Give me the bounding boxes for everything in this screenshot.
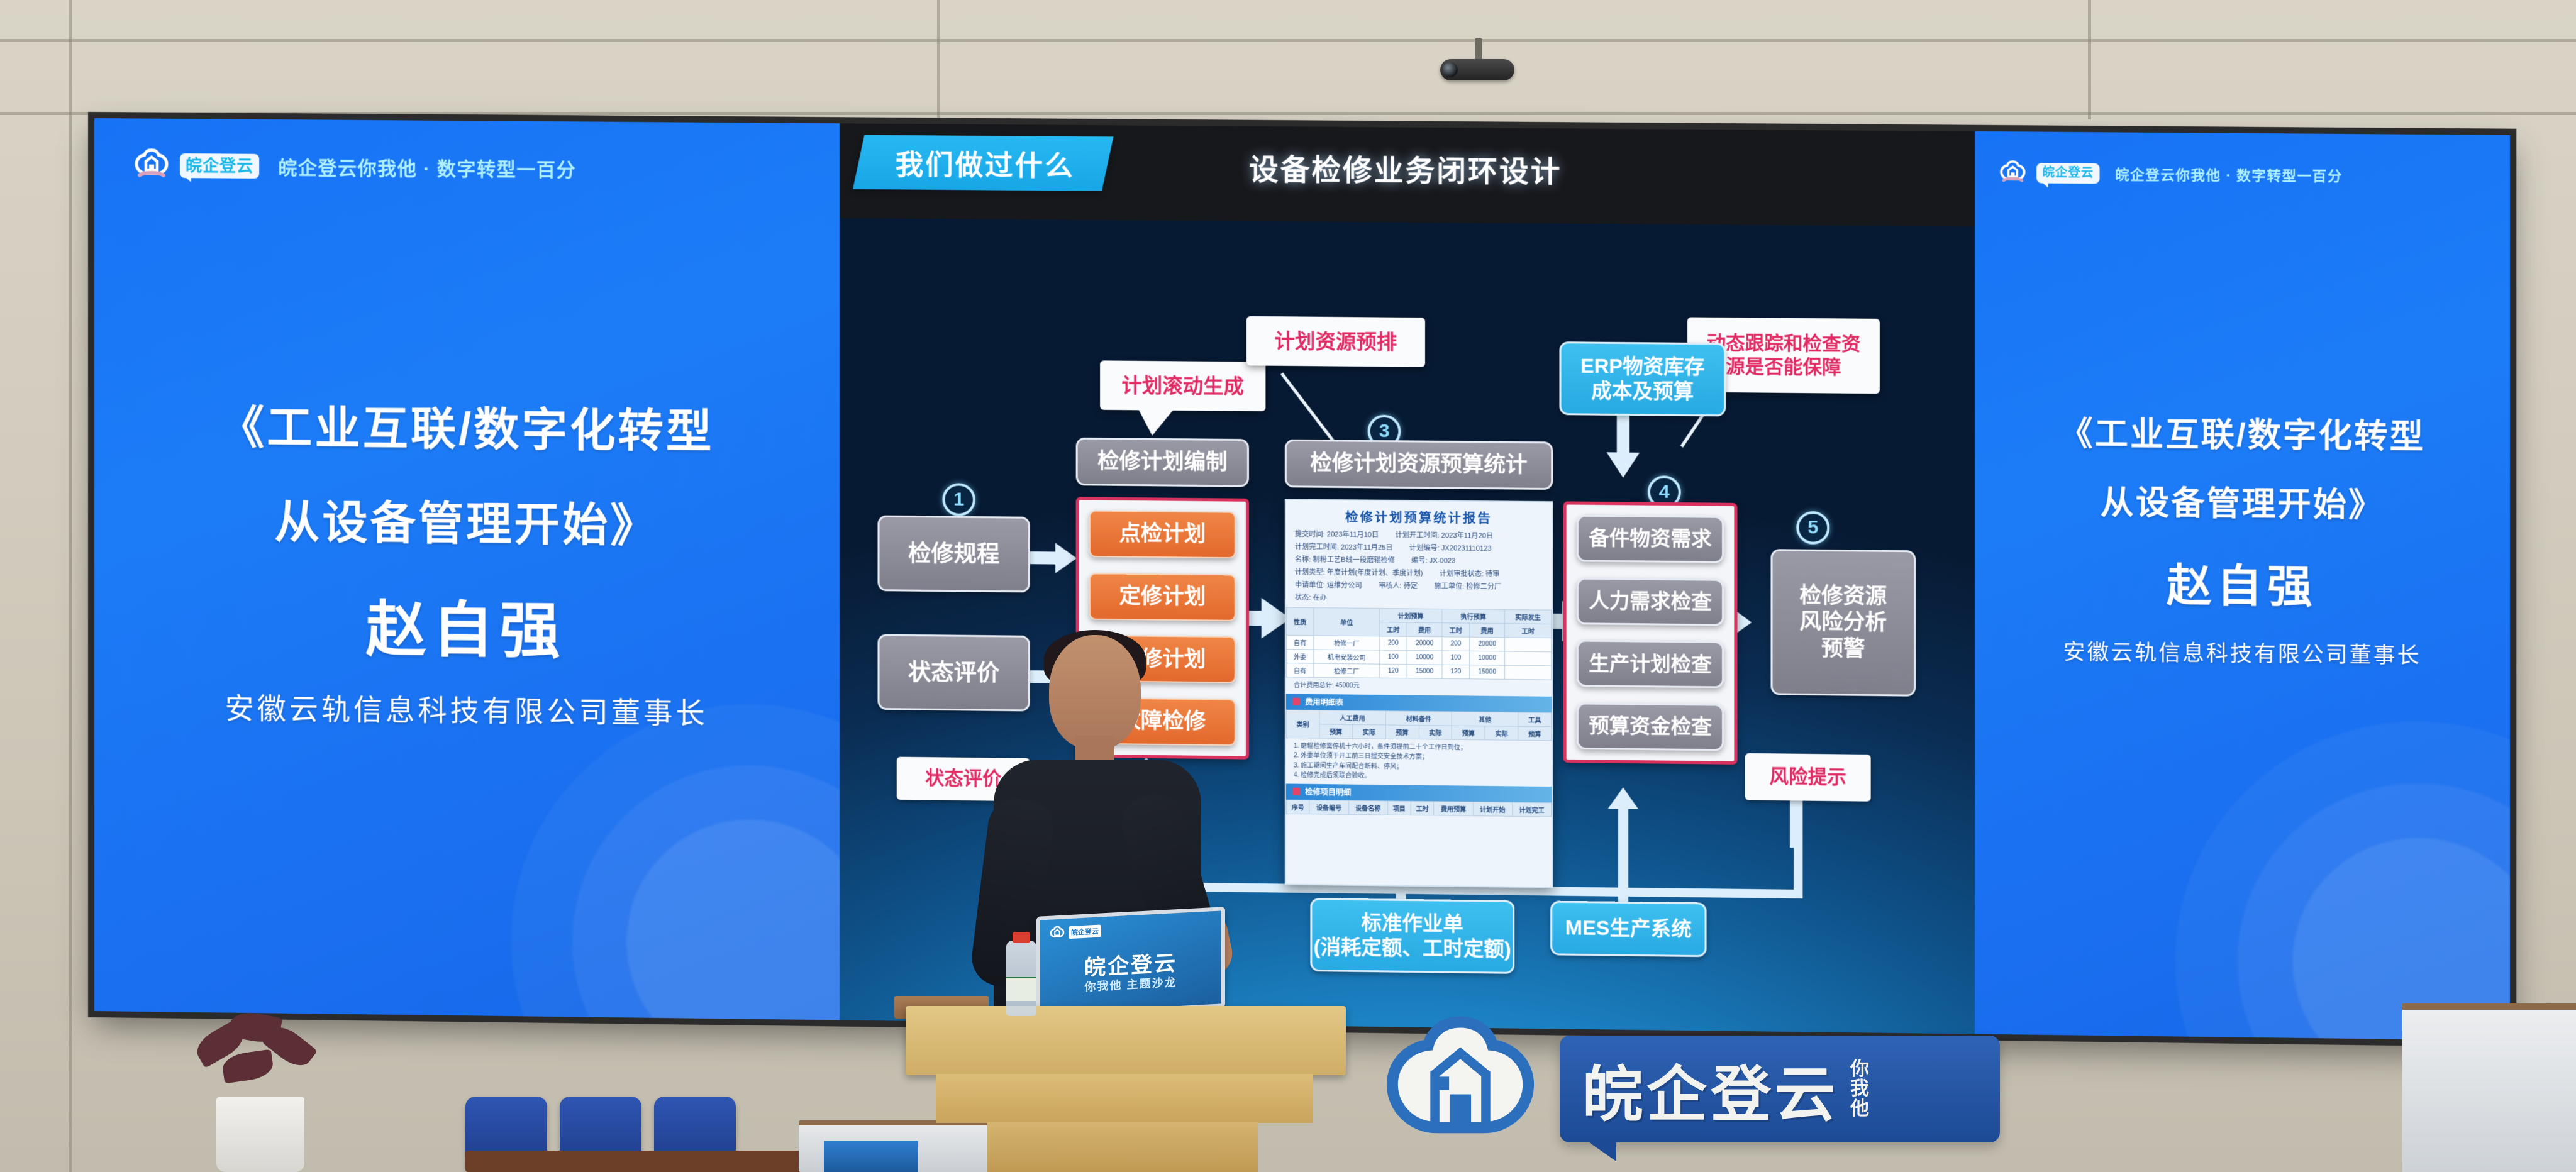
wall-seam — [0, 112, 2576, 115]
podium-top — [906, 1006, 1346, 1075]
node-risk-analysis: 检修资源 风险分析 预警 — [1770, 549, 1916, 697]
laptop-screen: 皖企登云 皖企登云 你我他 主题沙龙 — [1036, 907, 1225, 1017]
node-plan-resource-budget-stat: 检修计划资源预算统计 — [1285, 440, 1553, 490]
front-row-desk-right — [2402, 1003, 2576, 1172]
report-items-table: 序号 设备编号 设备名称 项目 工时 费用预算 计划开始 计划完工 — [1286, 799, 1552, 817]
brand-pill-left: 皖企登云 — [180, 153, 259, 178]
node-production-plan-check: 生产计划检查 — [1577, 640, 1724, 688]
callout-risk-alert: 风险提示 — [1745, 753, 1871, 802]
node-manpower-check: 人力需求检查 — [1577, 577, 1724, 626]
brand-tagline-right: 皖企登云你我他 · 数字转型一百分 — [2115, 163, 2343, 185]
panel-right-speaker-role: 安徽云轨信息科技有限公司董事长 — [1975, 634, 2510, 670]
slide-title: 设备检修业务闭环设计 — [840, 143, 1975, 194]
wall-seam — [0, 39, 2576, 42]
laptop-logo-icon: 皖企登云 — [1049, 923, 1101, 941]
panel-right-speaker-name: 赵自强 — [1975, 548, 2510, 617]
node-spot-check-plan: 点检计划 — [1089, 511, 1236, 559]
brand-header-right: 皖企登云 皖企登云你我他 · 数字转型一百分 — [1998, 160, 2343, 189]
brand-pill-right: 皖企登云 — [2036, 163, 2099, 184]
panel-left-speaker-role: 安徽云轨信息科技有限公司董事长 — [94, 684, 840, 733]
conference-room-background: 皖企登云 皖企登云你我他 · 数字转型一百分 《工业互联/数字化转型 从设备管理… — [0, 0, 2576, 1172]
th-group-exec: 执行预算 — [1442, 609, 1505, 623]
floor-sign-main-text: 皖企登云 — [1582, 1046, 1839, 1133]
node-plan-compile: 检修计划编制 — [1076, 438, 1249, 487]
panel-right-title-line2: 从设备管理开始》 — [1975, 475, 2510, 528]
badge-5: 5 — [1796, 511, 1829, 545]
desk-name-card — [824, 1141, 918, 1172]
floor-sign-sub-text: 你 我 他 — [1850, 1059, 1870, 1119]
report-screenshot: 检修计划预算统计报告 提交时间: 2023年11月10日计划开工时间: 2023… — [1285, 499, 1553, 888]
laptop-brand-pill: 皖企登云 — [1069, 924, 1101, 939]
speaker-podium: 皖企登云 皖企登云 你我他 主题沙龙 — [906, 962, 1346, 1172]
report-notes: 1. 磨辊检修需停机十六小时，备件须提前二十个工作日到位； 2. 外委单位须于开… — [1286, 738, 1552, 786]
callout-rolling-plan: 计划滚动生成 — [1100, 360, 1265, 411]
floor-sign-plate: 皖企登云 你 我 他 — [1560, 1036, 2000, 1142]
wanqi-cloud-logo-icon — [1377, 1010, 1543, 1168]
wall-seam — [937, 0, 940, 119]
badge-1: 1 — [942, 483, 975, 516]
wanqi-cloud-logo-icon — [1998, 160, 2028, 187]
report-budget-table: 性质 单位 计划预算 执行预算 实际发生 工时 费用 工时 — [1286, 607, 1552, 680]
panel-left-speaker-name: 赵自强 — [94, 577, 840, 672]
th-cost-2: 费用 — [1470, 623, 1505, 638]
floor-brand-sign: 皖企登云 你 我 他 — [1377, 1006, 2050, 1172]
panel-right-title-line1: 《工业互联/数字化转型 — [1975, 406, 2510, 458]
water-bottle — [1006, 941, 1036, 1016]
panel-left-title-line2: 从设备管理开始》 — [94, 483, 840, 556]
th-hours-1: 工时 — [1379, 622, 1407, 637]
security-camera-icon — [1440, 38, 1522, 82]
th-cost-1: 费用 — [1407, 622, 1442, 637]
wall-seam — [2088, 0, 2091, 119]
th-group-actual: 实际发生 — [1504, 609, 1551, 624]
wall-seam — [69, 0, 72, 1172]
audience-chairs — [465, 1063, 818, 1172]
brand-header-left: 皖企登云 皖企登云你我他 · 数字转型一百分 — [132, 147, 576, 185]
node-spare-parts-demand: 备件物资需求 — [1577, 515, 1724, 563]
podium-base — [987, 1122, 1258, 1172]
wanqi-cloud-logo-icon — [132, 147, 171, 182]
brand-tagline-left: 皖企登云你我他 · 数字转型一百分 — [278, 152, 576, 182]
th-group-plan: 计划预算 — [1379, 608, 1442, 622]
node-overhaul-rules: 检修规程 — [877, 516, 1030, 593]
th-nature: 性质 — [1286, 607, 1314, 636]
th-hours-3: 工时 — [1504, 624, 1551, 638]
report-meta: 提交时间: 2023年11月10日计划开工时间: 2023年11月20日计划完工… — [1286, 529, 1552, 610]
led-video-wall: 皖企登云 皖企登云你我他 · 数字转型一百分 《工业互联/数字化转型 从设备管理… — [94, 118, 2510, 1041]
th-hours-2: 工时 — [1442, 623, 1470, 638]
report-cost-detail-table: 类别 人工费用 材料备件 其他 工具 预算 实际 预算 — [1286, 709, 1552, 741]
group-resource-checks: 备件物资需求 人力需求检查 生产计划检查 预算资金检查 — [1563, 501, 1738, 765]
report-title: 检修计划预算统计报告 — [1286, 500, 1552, 531]
callout-tail — [1138, 409, 1183, 438]
right-title-panel: 皖企登云 皖企登云你我他 · 数字转型一百分 《工业互联/数字化转型 从设备管理… — [1975, 131, 2510, 1041]
potted-plant — [189, 1007, 333, 1172]
node-erp-inventory: ERP物资库存 成本及预算 — [1559, 341, 1726, 416]
panel-left-title-line1: 《工业互联/数字化转型 — [94, 389, 840, 462]
node-mes-system: MES生产系统 — [1550, 901, 1706, 958]
callout-resource-preschedule: 计划资源预排 — [1246, 316, 1425, 367]
presenter-head — [1049, 635, 1141, 749]
node-scheduled-repair-plan: 定修计划 — [1089, 573, 1236, 621]
node-budget-fund-check: 预算资金检查 — [1577, 702, 1724, 751]
podium-mid — [936, 1074, 1313, 1123]
th-unit: 单位 — [1314, 607, 1379, 636]
left-title-panel: 皖企登云 皖企登云你我他 · 数字转型一百分 《工业互联/数字化转型 从设备管理… — [94, 118, 840, 1020]
